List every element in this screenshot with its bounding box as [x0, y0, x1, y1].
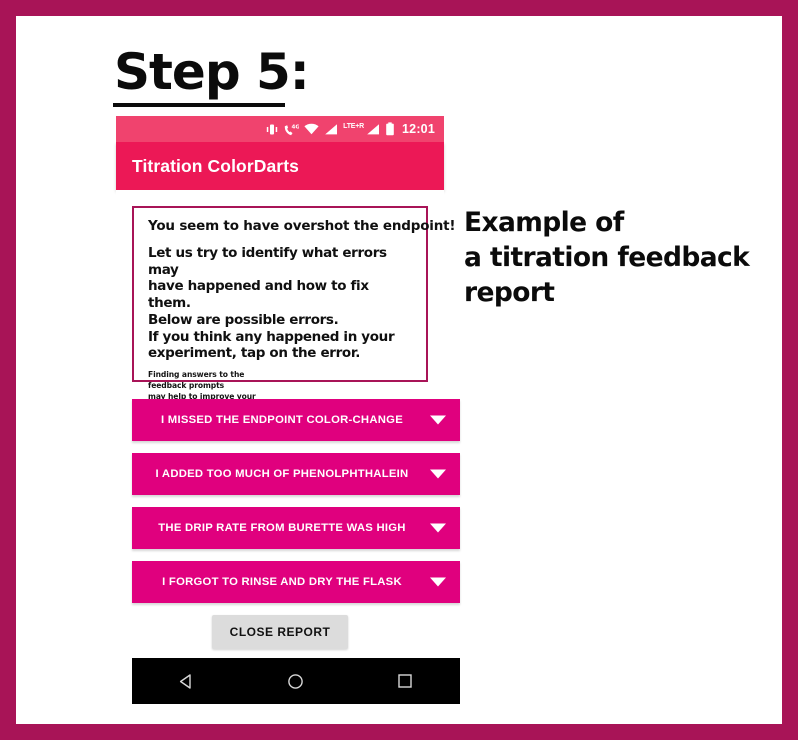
page-title-underline [113, 103, 285, 107]
caption-text: Example of a titration feedback report [464, 206, 794, 311]
svg-text:4G: 4G [292, 124, 300, 130]
page-title: Step 5: [114, 46, 309, 99]
chevron-down-icon[interactable] [430, 470, 446, 479]
close-report-row: CLOSE REPORT [116, 615, 444, 649]
error-button-drip-rate-high[interactable]: THE DRIP RATE FROM BURETTE WAS HIGH [132, 507, 460, 549]
feedback-card: You seem to have overshot the endpoint! … [132, 206, 428, 382]
wifi-icon [304, 122, 319, 136]
battery-icon [385, 122, 395, 136]
chevron-down-icon[interactable] [430, 416, 446, 425]
call-4g-icon: 4G [284, 122, 299, 136]
poster-canvas: Step 5: 4G [16, 16, 782, 724]
signal-bars-icon [324, 122, 338, 136]
home-circle-icon[interactable] [273, 658, 319, 704]
vibrate-icon [265, 122, 279, 136]
error-button-label: THE DRIP RATE FROM BURETTE WAS HIGH [158, 522, 433, 534]
signal-bars-lte-icon [366, 122, 380, 136]
error-button-forgot-rinse-flask[interactable]: I FORGOT TO RINSE AND DRY THE FLASK [132, 561, 460, 603]
recents-square-icon[interactable] [382, 658, 428, 704]
poster-frame: Step 5: 4G [0, 0, 798, 740]
error-button-too-much-phenolphthalein[interactable]: I ADDED TOO MUCH OF PHENOLPHTHALEIN [132, 453, 460, 495]
network-type-label: LTE+R [343, 123, 364, 130]
back-triangle-icon[interactable] [164, 658, 210, 704]
app-content: You seem to have overshot the endpoint! … [116, 190, 444, 704]
app-title: Titration ColorDarts [132, 156, 299, 177]
android-navigation-bar [132, 658, 460, 704]
error-list: I MISSED THE ENDPOINT COLOR-CHANGE I ADD… [116, 399, 444, 603]
chevron-down-icon[interactable] [430, 578, 446, 587]
error-button-label: I MISSED THE ENDPOINT COLOR-CHANGE [161, 414, 431, 426]
error-button-label: I ADDED TOO MUCH OF PHENOLPHTHALEIN [156, 468, 437, 480]
chevron-down-icon[interactable] [430, 524, 446, 533]
phone-mockup: 4G LTE+R [116, 116, 444, 704]
error-button-label: I FORGOT TO RINSE AND DRY THE FLASK [162, 576, 430, 588]
status-bar-clock: 12:01 [402, 122, 435, 136]
status-bar: 4G LTE+R [116, 116, 444, 142]
feedback-headline: You seem to have overshot the endpoint! [148, 218, 414, 234]
feedback-body-text: Let us try to identify what errors may h… [148, 245, 414, 362]
app-bar: Titration ColorDarts [116, 142, 444, 190]
error-button-missed-endpoint[interactable]: I MISSED THE ENDPOINT COLOR-CHANGE [132, 399, 460, 441]
close-report-button[interactable]: CLOSE REPORT [212, 615, 349, 649]
